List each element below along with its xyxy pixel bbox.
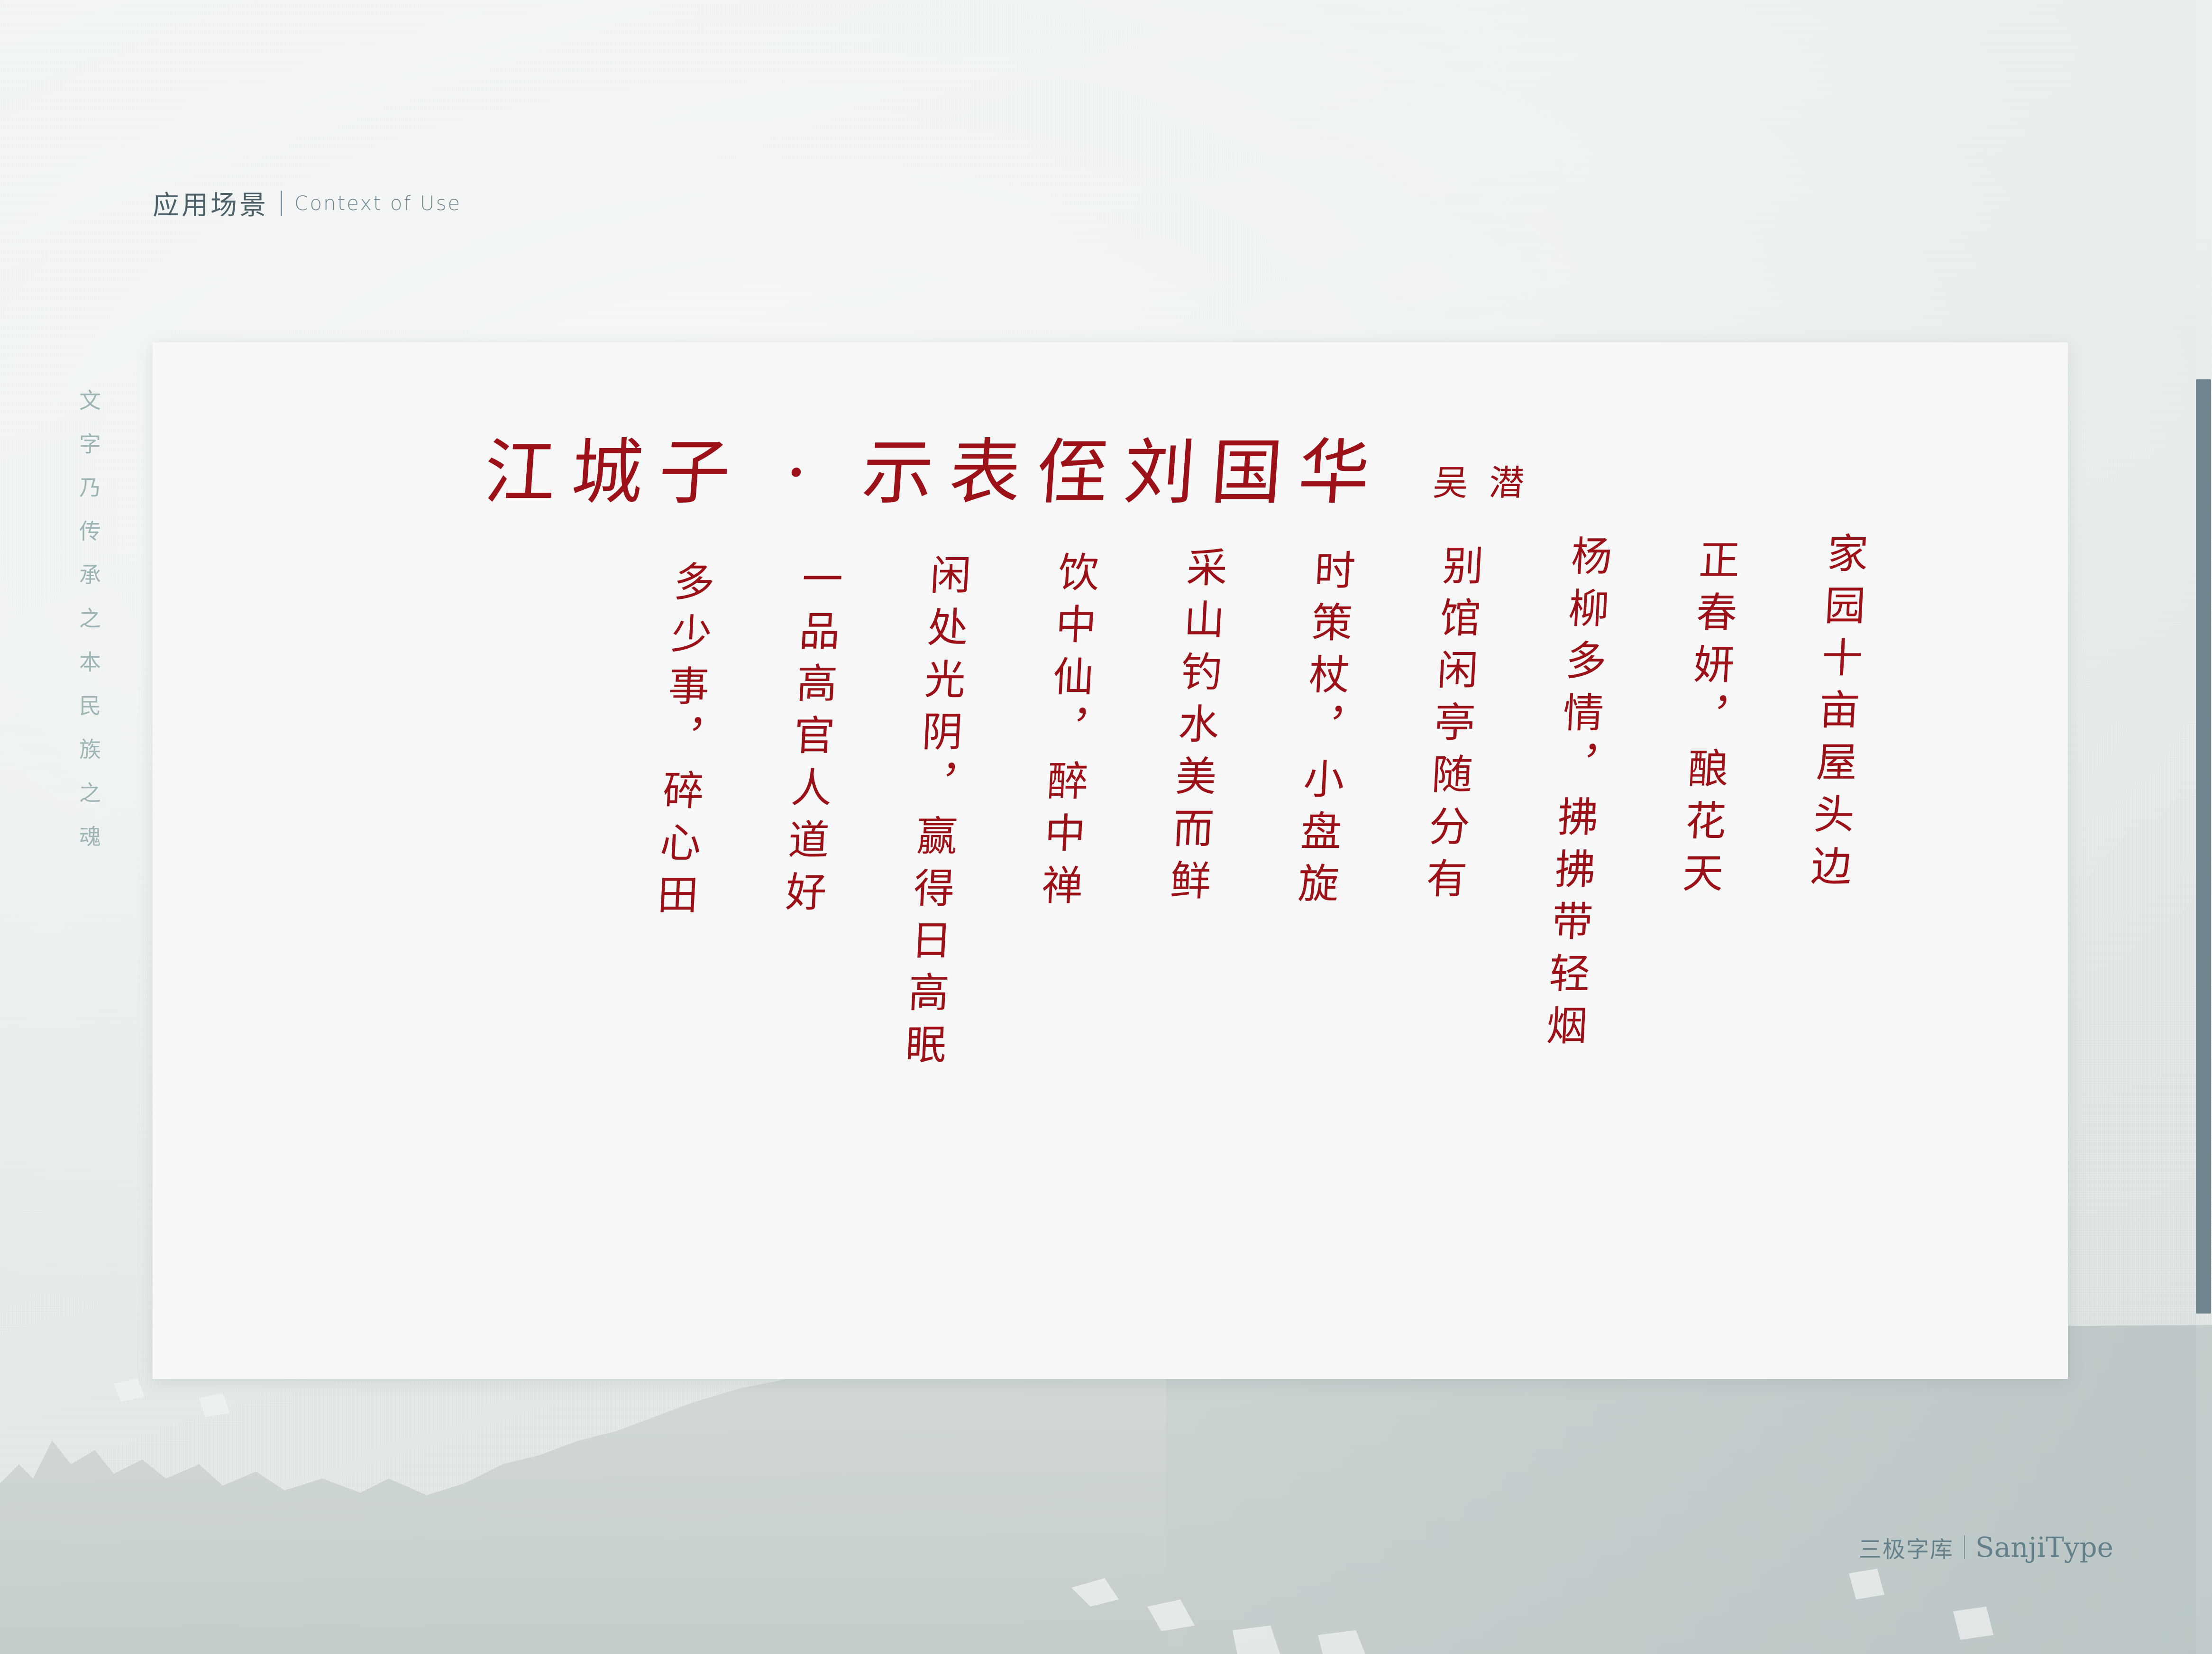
page-header: 应用场景 Context of Use bbox=[153, 184, 461, 222]
brand-name-en: SanjiType bbox=[1975, 1531, 2113, 1563]
slide-stage: 应用场景 Context of Use 文字乃传承之本民族之魂 江城子 · 示表… bbox=[0, 0, 2212, 1654]
page-title-zh: 应用场景 bbox=[153, 184, 268, 222]
poem-column: 一品高官人道好 bbox=[746, 532, 841, 1338]
poem-heading: 江城子 · 示表侄刘国华 吴潜 bbox=[484, 437, 1545, 508]
brand-divider bbox=[1964, 1535, 1965, 1559]
poem-column: 闲处光阴，赢得日高眠 bbox=[874, 532, 969, 1338]
poem-author: 吴潜 bbox=[1432, 466, 1546, 501]
poem-title: 江城子 · 示表侄刘国华 bbox=[482, 437, 1389, 508]
poem-column: 多少事，碎心田 bbox=[618, 532, 713, 1338]
poem-body: 家园十亩屋头边 正春妍，酿花天 杨柳多情，拂拂带轻烟 别馆闲亭随分有 时策杖，小… bbox=[153, 532, 2068, 1338]
poem-column: 家园十亩屋头边 bbox=[1770, 532, 1865, 1338]
content-card: 江城子 · 示表侄刘国华 吴潜 家园十亩屋头边 正春妍，酿花天 杨柳多情，拂拂带… bbox=[153, 342, 2068, 1379]
scrollbar-thumb[interactable] bbox=[2196, 379, 2211, 1314]
scrollbar-track[interactable] bbox=[2196, 0, 2212, 1654]
side-caption: 文字乃传承之本民族之魂 bbox=[62, 389, 100, 869]
brand-logo: 三极字库 SanjiType bbox=[1859, 1531, 2113, 1564]
poem-column: 正春妍，酿花天 bbox=[1642, 532, 1737, 1338]
poem-column: 别馆闲亭随分有 bbox=[1386, 532, 1481, 1338]
poem-column: 时策杖，小盘旋 bbox=[1258, 532, 1353, 1338]
brand-name-zh: 三极字库 bbox=[1859, 1531, 1954, 1564]
poem-column: 饮中仙，醉中禅 bbox=[1002, 532, 1097, 1338]
header-divider bbox=[281, 191, 282, 216]
page-title-en: Context of Use bbox=[294, 192, 461, 215]
poem-column: 杨柳多情，拂拂带轻烟 bbox=[1514, 532, 1609, 1338]
poem-column: 采山钓水美而鲜 bbox=[1130, 532, 1225, 1338]
